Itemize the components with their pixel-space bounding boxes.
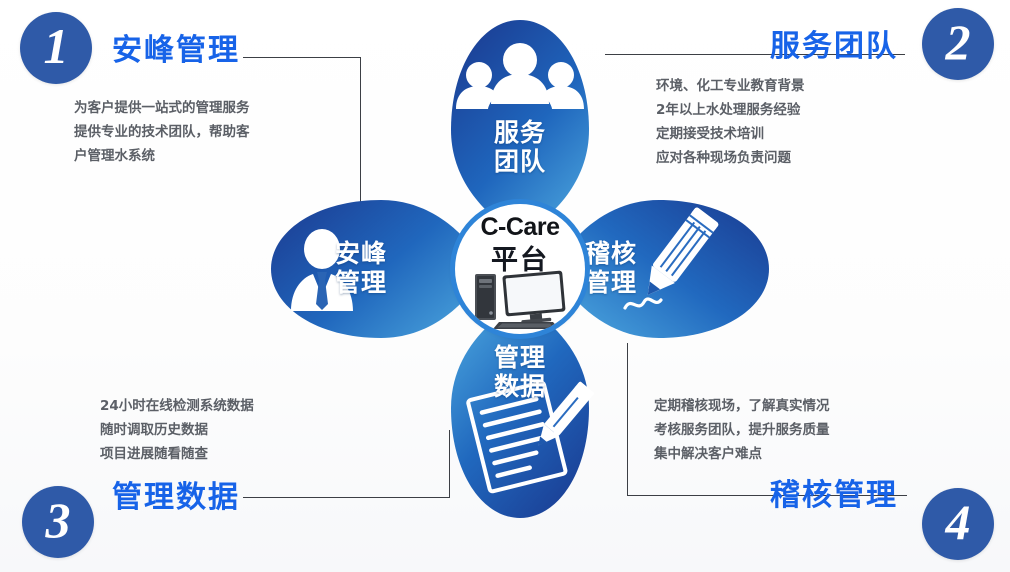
section-body-3-line-1: 24小时在线检测系统数据 (100, 394, 254, 418)
section-body-1-line-2: 提供专业的技术团队，帮助客 (74, 120, 250, 144)
section-badge-1-number: 1 (44, 21, 69, 71)
section-badge-2: 2 (922, 8, 994, 80)
section-title-2: 服务团队 (770, 21, 898, 65)
section-title-3: 管理数据 (112, 472, 240, 516)
section-body-3-line-2: 随时调取历史数据 (100, 418, 254, 442)
center-hub[interactable]: C-Care 平台 (455, 204, 585, 334)
section-badge-2-number: 2 (946, 17, 971, 67)
section-title-4: 稽核管理 (770, 470, 898, 514)
infographic-canvas: 1 2 3 4 安峰管理 服务团队 管理数据 稽核管理 为客户提供一站式的管理服… (0, 0, 1010, 572)
section-body-1: 为客户提供一站式的管理服务 提供专业的技术团队，帮助客 户管理水系统 (74, 96, 250, 168)
section-badge-1: 1 (20, 12, 92, 84)
section-title-1: 安峰管理 (112, 25, 240, 69)
section-body-3: 24小时在线检测系统数据 随时调取历史数据 项目进展随看随查 (100, 394, 254, 466)
section-badge-3-number: 3 (46, 495, 71, 545)
four-petal-diagram: 服务 团队 安峰 管理 稽核 管理 管理 数据 C-Care 平台 (255, 8, 785, 518)
section-body-1-line-3: 户管理水系统 (74, 144, 250, 168)
section-badge-3: 3 (22, 486, 94, 558)
section-body-1-line-1: 为客户提供一站式的管理服务 (74, 96, 250, 120)
desktop-computer-icon (471, 270, 569, 330)
section-body-3-line-3: 项目进展随看随查 (100, 442, 254, 466)
section-badge-4: 4 (922, 488, 994, 560)
section-badge-4-number: 4 (946, 497, 971, 547)
